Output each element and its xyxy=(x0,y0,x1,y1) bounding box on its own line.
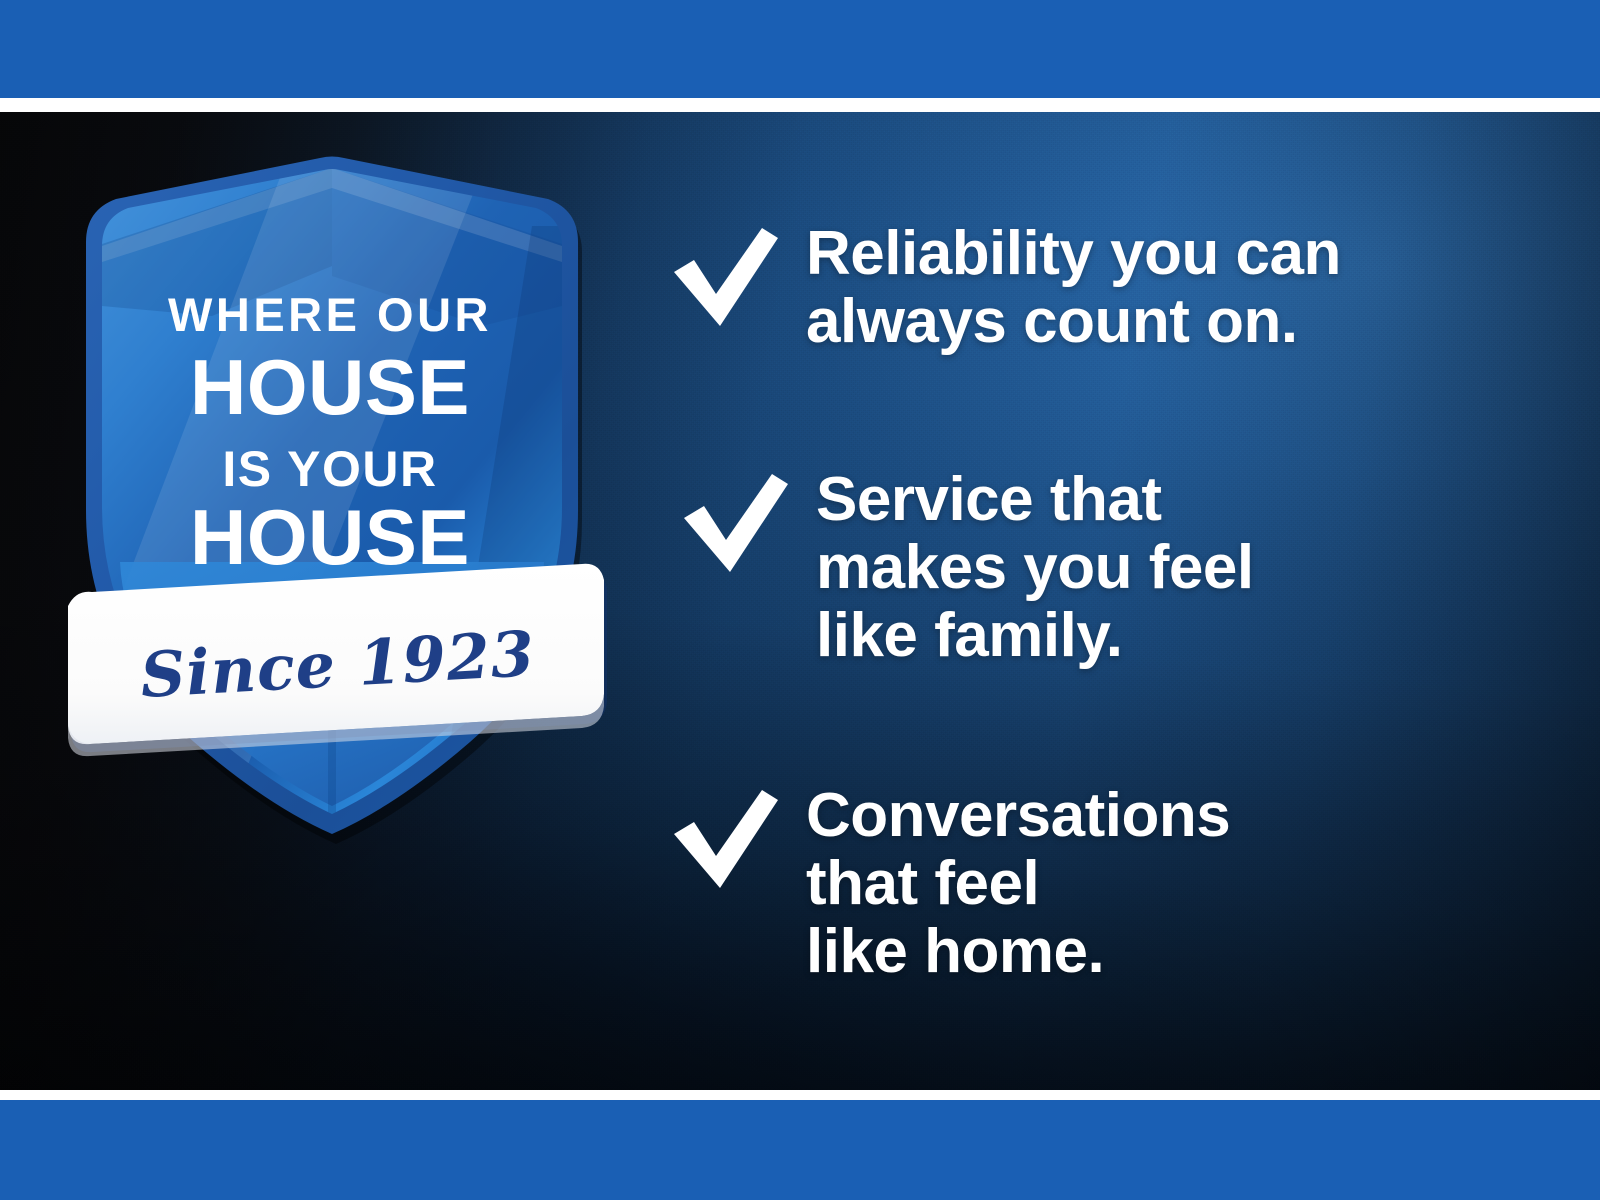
list-item: Conversations that feel like home. xyxy=(668,780,1230,987)
promotional-banner: WHERE OUR HOUSE IS YOUR HOUSE Since 1923… xyxy=(0,0,1600,1200)
top-brand-bar xyxy=(0,0,1600,98)
list-item: Reliability you can always count on. xyxy=(668,218,1341,356)
check-icon xyxy=(678,472,790,576)
list-item: Service that makes you feel like family. xyxy=(678,464,1254,671)
check-icon xyxy=(668,788,780,892)
shield-line-2: HOUSE xyxy=(190,343,470,431)
bottom-brand-bar xyxy=(0,1100,1600,1200)
shield-line-4: HOUSE xyxy=(190,493,470,581)
bottom-separator xyxy=(0,1090,1600,1100)
check-icon xyxy=(668,226,780,330)
shield-line-3: IS YOUR xyxy=(222,441,437,497)
benefits-list: Reliability you can always count on. Ser… xyxy=(668,112,1568,1090)
shield-line-1: WHERE OUR xyxy=(168,288,492,341)
list-item-label: Reliability you can always count on. xyxy=(806,218,1341,356)
list-item-label: Service that makes you feel like family. xyxy=(816,464,1254,671)
top-separator xyxy=(0,98,1600,112)
since-ribbon: Since 1923 xyxy=(68,564,607,756)
company-shield-badge: WHERE OUR HOUSE IS YOUR HOUSE Since 1923 xyxy=(62,166,602,816)
list-item-label: Conversations that feel like home. xyxy=(806,780,1230,987)
